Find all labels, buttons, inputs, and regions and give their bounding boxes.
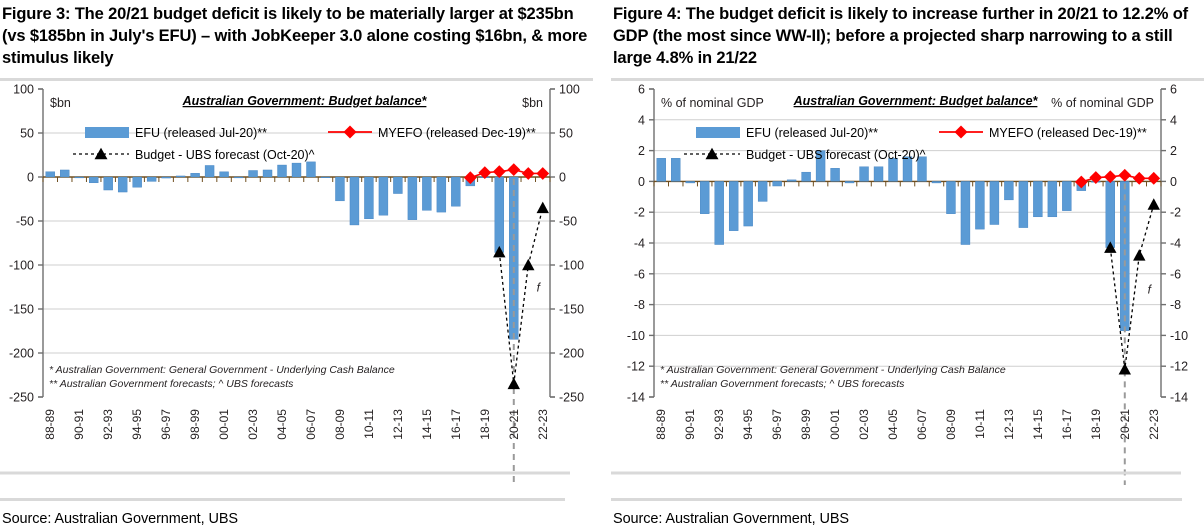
figure-4-bottom-rule: [611, 498, 1182, 501]
unit-label-left: % of nominal GDP: [661, 96, 764, 110]
bar-series: [657, 151, 1130, 331]
bar: [205, 165, 214, 177]
ytick-label-right--250: -250: [559, 391, 584, 405]
xtick-label: 90-91: [683, 409, 697, 440]
bar: [990, 181, 999, 224]
bar: [335, 177, 344, 201]
bar: [364, 177, 373, 219]
xtick-label: 00-01: [828, 409, 842, 440]
figure-3-chart: 100100505000-50-50-100-100-150-150-200-2…: [0, 81, 593, 485]
bar: [451, 177, 460, 206]
bar: [147, 177, 156, 181]
legend-label-ubs: Budget - UBS forecast (Oct-20)^: [135, 148, 315, 162]
legend-label-efu: EFU (released Jul-20)**: [135, 126, 267, 140]
xtick-label: 14-15: [420, 409, 434, 440]
xtick-label: 88-89: [43, 409, 57, 440]
ytick-label-right-100: 100: [559, 83, 580, 97]
bar: [220, 172, 229, 177]
legend-marker-myefo: [344, 126, 357, 139]
ytick-label-right--200: -200: [559, 347, 584, 361]
bar: [306, 162, 315, 177]
figure-4-title: Figure 4: The budget deficit is likely t…: [611, 0, 1204, 76]
xtick-label: 12-13: [391, 409, 405, 440]
bar: [961, 181, 970, 244]
xtick-label: 10-11: [973, 409, 987, 439]
bar: [787, 180, 796, 182]
footnote-1: * Australian Government: General Governm…: [49, 364, 395, 376]
unit-label-right: $bn: [522, 96, 543, 110]
figure-3-source: Source: Australian Government, UBS: [2, 511, 238, 527]
xtick-label: 90-91: [72, 409, 86, 440]
ubs-forecast-marker: [1133, 249, 1145, 260]
ytick-label-left--6: -6: [634, 267, 645, 281]
figure-4-source: Source: Australian Government, UBS: [613, 511, 849, 527]
bar: [860, 167, 869, 182]
bar: [321, 177, 330, 178]
bar: [249, 170, 258, 177]
bar: [700, 181, 709, 213]
bar: [845, 181, 854, 183]
ytick-label-right--12: -12: [1170, 360, 1188, 374]
ytick-label-right--6: -6: [1170, 267, 1181, 281]
ytick-label-left-2: 2: [638, 144, 645, 158]
forecast-annotation: f: [537, 280, 542, 294]
legend-marker-myefo: [955, 126, 968, 139]
x-axis-labels: 88-8990-9192-9394-9596-9798-9900-0102-03…: [43, 409, 550, 440]
bar: [1033, 181, 1042, 216]
myefo-marker: [536, 167, 549, 180]
ytick-label-right--50: -50: [559, 215, 577, 229]
xtick-label: 12-13: [1002, 409, 1016, 440]
ytick-label-left--4: -4: [634, 237, 645, 251]
xtick-label: 22-23: [536, 409, 550, 440]
xtick-label: 16-17: [1060, 409, 1074, 440]
ubs-forecast-marker: [508, 378, 520, 389]
ytick-label-right-0: 0: [1170, 175, 1177, 189]
xtick-label: 06-07: [304, 409, 318, 440]
xtick-label: 88-89: [654, 409, 668, 440]
bar: [657, 158, 666, 181]
xtick-label: 18-19: [1089, 409, 1103, 440]
myefo-marker: [1118, 169, 1131, 182]
xtick-label: 92-93: [712, 409, 726, 440]
bar: [437, 177, 446, 212]
xtick-label: 96-97: [159, 409, 173, 440]
bar: [802, 172, 811, 181]
ubs-forecast-line: [499, 208, 542, 384]
ytick-label-left--8: -8: [634, 298, 645, 312]
footnote-2: ** Australian Government forecasts; ^ UB…: [49, 378, 294, 390]
bar: [104, 177, 113, 190]
bar-series: [46, 162, 519, 339]
xtick-label: 08-09: [944, 409, 958, 440]
ytick-label-right--8: -8: [1170, 298, 1181, 312]
bar: [831, 168, 840, 181]
myefo-marker: [493, 165, 506, 178]
ubs-forecast-marker: [1148, 198, 1160, 209]
ytick-label-right--100: -100: [559, 259, 584, 273]
ytick-label-left--50: -50: [16, 215, 34, 229]
ytick-label-left-0: 0: [638, 175, 645, 189]
legend-swatch-efu: [696, 127, 740, 138]
ytick-label-left--100: -100: [9, 259, 34, 273]
xtick-label: 02-03: [246, 409, 260, 440]
myefo-marker: [1133, 172, 1146, 185]
xtick-label: 18-19: [478, 409, 492, 440]
ytick-label-left-100: 100: [13, 83, 34, 97]
bar: [278, 165, 287, 177]
chart-inner-title: Australian Government: Budget balance*: [793, 94, 1039, 108]
xtick-label: 20-21: [507, 409, 521, 440]
bar: [946, 181, 955, 213]
bar: [715, 181, 724, 244]
bar: [1062, 181, 1071, 210]
figure-3-panel: Figure 3: The 20/21 budget deficit is li…: [0, 0, 593, 531]
xtick-label: 94-95: [741, 409, 755, 440]
bar: [263, 170, 272, 177]
xtick-label: 22-23: [1147, 409, 1161, 440]
myefo-marker: [507, 163, 520, 176]
bar: [133, 177, 142, 187]
bar: [874, 167, 883, 182]
bar: [234, 177, 243, 178]
bar: [729, 181, 738, 230]
forecast-annotation: f: [1148, 283, 1153, 297]
ytick-label-right-6: 6: [1170, 83, 1177, 97]
bar: [75, 177, 84, 178]
ytick-label-left-50: 50: [20, 127, 34, 141]
bar: [176, 176, 185, 177]
bar: [744, 181, 753, 226]
ytick-label-right--10: -10: [1170, 329, 1188, 343]
bar: [1004, 181, 1013, 199]
figure-4-panel: Figure 4: The budget deficit is likely t…: [611, 0, 1204, 531]
figure-4-plot: 66442200-2-2-4-4-6-6-8-8-10-10-12-12-14-…: [611, 81, 1204, 485]
bar: [191, 173, 200, 177]
ytick-label-right--14: -14: [1170, 391, 1188, 405]
bar: [1019, 181, 1028, 227]
myefo-marker: [1147, 172, 1160, 185]
ubs-forecast-marker: [1119, 363, 1131, 374]
legend-label-efu: EFU (released Jul-20)**: [746, 126, 878, 140]
figure-3-plot: 100100505000-50-50-100-100-150-150-200-2…: [0, 81, 593, 485]
xtick-label: 04-05: [886, 409, 900, 440]
bar: [60, 170, 69, 177]
bar: [118, 177, 127, 192]
xtick-label: 16-17: [449, 409, 463, 440]
xtick-label: 10-11: [362, 409, 376, 439]
bar: [1048, 181, 1057, 216]
bar: [162, 177, 171, 178]
figure-3-bottom-rule: [0, 498, 565, 501]
ytick-label-left--14: -14: [627, 391, 645, 405]
bar: [89, 177, 98, 183]
xtick-label: 14-15: [1031, 409, 1045, 440]
xtick-label: 02-03: [857, 409, 871, 440]
xtick-label: 98-99: [799, 409, 813, 440]
bar: [393, 177, 402, 194]
ytick-label-left-6: 6: [638, 83, 645, 97]
ytick-label-right--150: -150: [559, 303, 584, 317]
ytick-label-right-50: 50: [559, 127, 573, 141]
bar: [408, 177, 417, 220]
bar: [975, 181, 984, 229]
xtick-label: 04-05: [275, 409, 289, 440]
bar: [1106, 181, 1115, 247]
chart-inner-title: Australian Government: Budget balance*: [182, 94, 428, 108]
xtick-label: 98-99: [188, 409, 202, 440]
ytick-label-right-4: 4: [1170, 113, 1177, 127]
bar: [758, 181, 767, 201]
ytick-label-left--250: -250: [9, 391, 34, 405]
xtick-label: 08-09: [333, 409, 347, 440]
bar: [671, 158, 680, 181]
xtick-label: 92-93: [101, 409, 115, 440]
x-axis-labels: 88-8990-9192-9394-9596-9798-9900-0102-03…: [654, 409, 1161, 440]
bar: [46, 172, 55, 177]
legend-label-myefo: MYEFO (released Dec-19)**: [989, 126, 1147, 140]
unit-label-right: % of nominal GDP: [1051, 96, 1154, 110]
bar: [773, 181, 782, 186]
figure-3-title: Figure 3: The 20/21 budget deficit is li…: [0, 0, 593, 76]
bar: [495, 177, 504, 253]
xtick-label: 00-01: [217, 409, 231, 440]
figures-page: Figure 3: The 20/21 budget deficit is li…: [0, 0, 1204, 531]
ytick-label-left-0: 0: [27, 171, 34, 185]
legend-label-myefo: MYEFO (released Dec-19)**: [378, 126, 536, 140]
ytick-label-right-2: 2: [1170, 144, 1177, 158]
ytick-label-left--2: -2: [634, 206, 645, 220]
ytick-label-right-0: 0: [559, 171, 566, 185]
ytick-label-left--150: -150: [9, 303, 34, 317]
legend-swatch-efu: [85, 127, 129, 138]
xtick-label: 94-95: [130, 409, 144, 440]
myefo-marker: [522, 167, 535, 180]
legend-label-ubs: Budget - UBS forecast (Oct-20)^: [746, 148, 926, 162]
bar: [379, 177, 388, 215]
footnote-2: ** Australian Government forecasts; ^ UB…: [660, 378, 905, 390]
ytick-label-left-4: 4: [638, 113, 645, 127]
ytick-label-right--4: -4: [1170, 237, 1181, 251]
xtick-label: 06-07: [915, 409, 929, 440]
xtick-label: 96-97: [770, 409, 784, 440]
bar: [292, 163, 301, 177]
ytick-label-left--12: -12: [627, 360, 645, 374]
footnote-1: * Australian Government: General Governm…: [660, 364, 1006, 376]
ubs-forecast-marker: [537, 202, 549, 213]
bar: [350, 177, 359, 225]
bar: [422, 177, 431, 210]
unit-label-left: $bn: [50, 96, 71, 110]
bar: [932, 181, 941, 183]
xtick-label: 20-21: [1118, 409, 1132, 440]
figure-4-chart: 66442200-2-2-4-4-6-6-8-8-10-10-12-12-14-…: [611, 81, 1204, 485]
ytick-label-left--10: -10: [627, 329, 645, 343]
bar: [686, 181, 695, 183]
ytick-label-left--200: -200: [9, 347, 34, 361]
ytick-label-right--2: -2: [1170, 206, 1181, 220]
